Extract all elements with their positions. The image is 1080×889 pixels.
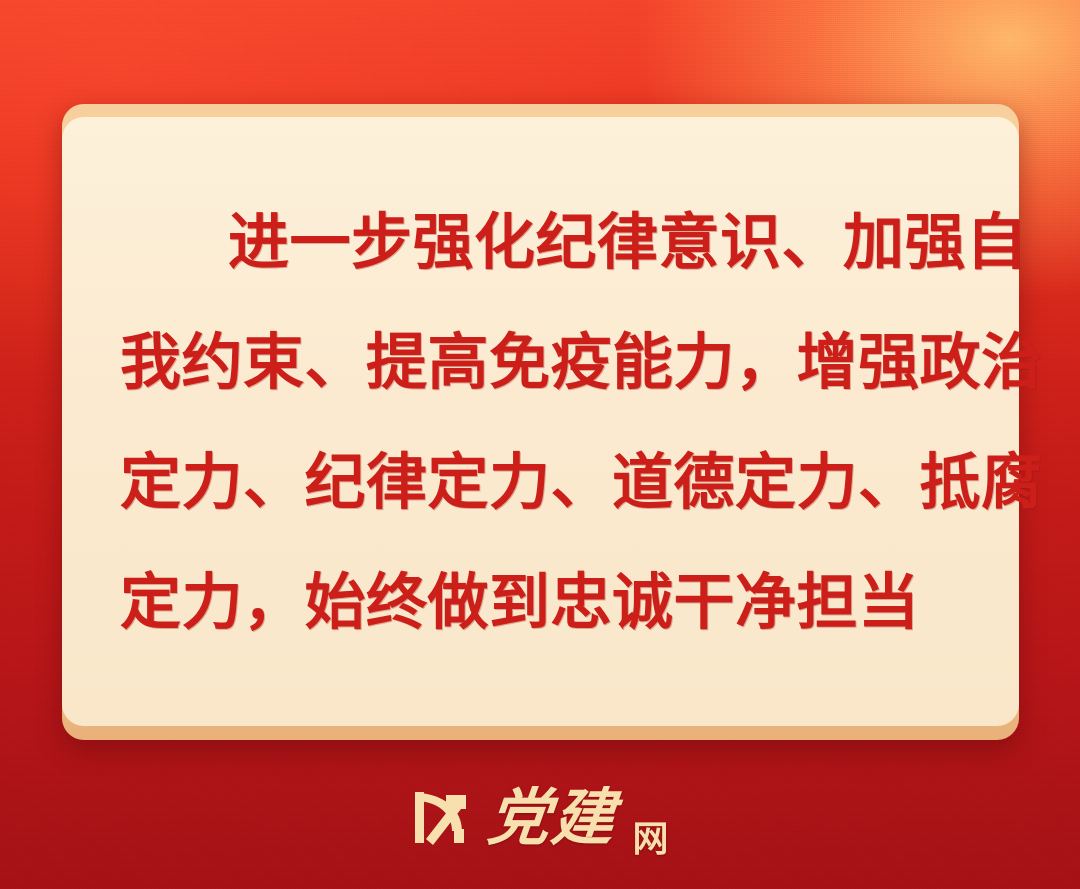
logo-brand-suffix: 网 xyxy=(633,822,670,864)
quote-text-block: 进一步强化纪律意识、加强自 我约束、提高免疫能力，增强政治 定力、纪律定力、道德… xyxy=(120,183,961,663)
quote-card: 进一步强化纪律意识、加强自 我约束、提高免疫能力，增强政治 定力、纪律定力、道德… xyxy=(62,117,1019,726)
poster-canvas: 进一步强化纪律意识、加强自 我约束、提高免疫能力，增强政治 定力、纪律定力、道德… xyxy=(0,0,1080,889)
quote-line-4: 定力，始终做到忠诚干净担当 xyxy=(120,543,961,663)
quote-line-1: 进一步强化纪律意识、加强自 xyxy=(120,183,961,303)
hammer-and-sickle-icon xyxy=(410,789,472,847)
site-logo: 党建 网 xyxy=(0,772,1080,864)
quote-line-3: 定力、纪律定力、道德定力、抵腐 xyxy=(120,423,961,543)
logo-brand-text: 党建 xyxy=(485,787,620,849)
quote-line-2: 我约束、提高免疫能力，增强政治 xyxy=(120,303,961,423)
